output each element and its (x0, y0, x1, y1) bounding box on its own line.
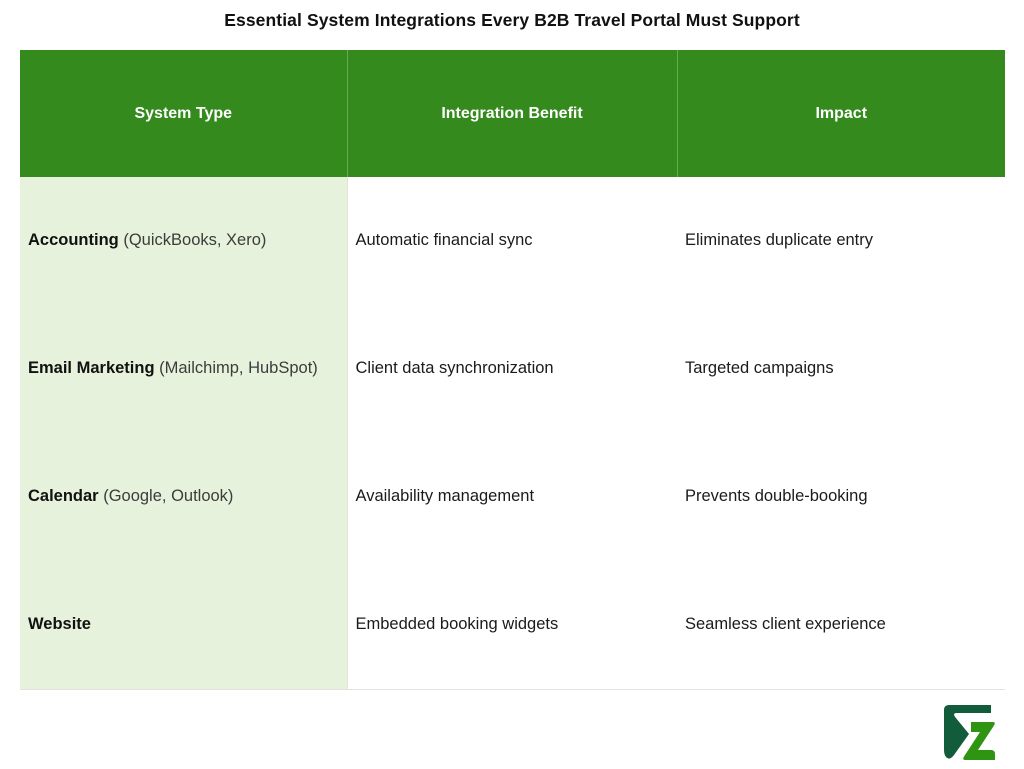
system-vendors: (Google, Outlook) (99, 487, 234, 505)
system-vendors: (QuickBooks, Xero) (119, 231, 267, 249)
system-term: Website (28, 615, 91, 633)
column-header-system-type: System Type (20, 50, 347, 177)
cell-integration-benefit: Automatic financial sync (347, 177, 677, 305)
system-vendors-text: (Mailchimp, HubSpot) (159, 359, 318, 377)
column-header-impact: Impact (677, 50, 1005, 177)
cell-impact: Targeted campaigns (677, 305, 1005, 433)
system-vendors-text: (QuickBooks, Xero) (123, 231, 266, 249)
cell-impact: Prevents double-booking (677, 433, 1005, 561)
table-header: System Type Integration Benefit Impact (20, 50, 1005, 177)
system-term: Calendar (28, 487, 99, 505)
brand-logo-icon (938, 702, 1000, 764)
integration-table-container: System Type Integration Benefit Impact A… (20, 50, 1005, 690)
cell-system-type: Email Marketing (Mailchimp, HubSpot) (20, 305, 347, 433)
system-term: Accounting (28, 231, 119, 249)
integration-table: System Type Integration Benefit Impact A… (20, 50, 1005, 690)
cell-system-type: Accounting (QuickBooks, Xero) (20, 177, 347, 305)
cell-impact: Seamless client experience (677, 561, 1005, 689)
system-term: Email Marketing (28, 359, 155, 377)
page-title: Essential System Integrations Every B2B … (0, 10, 1024, 31)
cell-integration-benefit: Availability management (347, 433, 677, 561)
cell-system-type: Website (20, 561, 347, 689)
cell-impact: Eliminates duplicate entry (677, 177, 1005, 305)
table-body: Accounting (QuickBooks, Xero) Automatic … (20, 177, 1005, 689)
table-row: Calendar (Google, Outlook) Availability … (20, 433, 1005, 561)
table-header-row: System Type Integration Benefit Impact (20, 50, 1005, 177)
table-row: Email Marketing (Mailchimp, HubSpot) Cli… (20, 305, 1005, 433)
cell-integration-benefit: Client data synchronization (347, 305, 677, 433)
system-vendors: (Mailchimp, HubSpot) (155, 359, 318, 377)
cell-system-type: Calendar (Google, Outlook) (20, 433, 347, 561)
cell-integration-benefit: Embedded booking widgets (347, 561, 677, 689)
table-row: Accounting (QuickBooks, Xero) Automatic … (20, 177, 1005, 305)
table-row: Website Embedded booking widgets Seamles… (20, 561, 1005, 689)
column-header-integration-benefit: Integration Benefit (347, 50, 677, 177)
system-vendors-text: (Google, Outlook) (103, 487, 233, 505)
